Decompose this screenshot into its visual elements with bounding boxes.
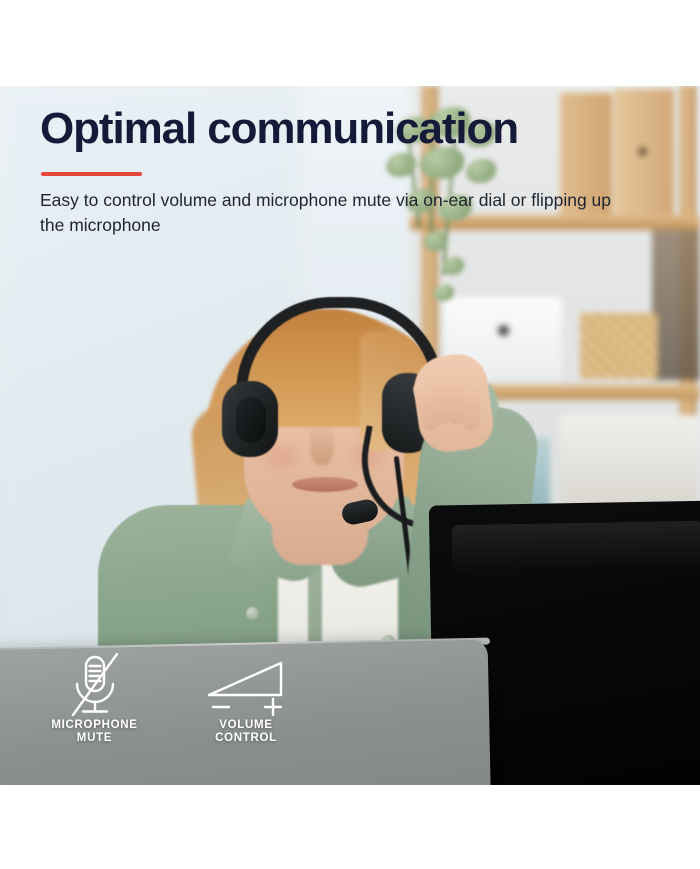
feature-microphone-mute: MICROPHONE MUTE: [22, 653, 167, 745]
volume-control-icon: [203, 657, 289, 719]
product-feature-banner: MICROPHONE MUTE VOLUME CONTROL Optimal c…: [0, 0, 700, 869]
page-title: Optimal communication: [40, 106, 518, 152]
feature-label-line2: MUTE: [22, 732, 167, 745]
page-subtitle: Easy to control volume and microphone mu…: [40, 188, 640, 238]
accent-rule: [41, 172, 142, 176]
bottom-white-margin: [0, 785, 700, 869]
feature-label-line1: MICROPHONE: [22, 719, 167, 732]
microphone-mute-icon: [65, 653, 125, 719]
feature-label-line1: VOLUME: [170, 719, 322, 732]
feature-label-line2: CONTROL: [170, 732, 322, 745]
top-white-margin: [0, 0, 700, 86]
feature-volume-control: VOLUME CONTROL: [170, 657, 322, 745]
